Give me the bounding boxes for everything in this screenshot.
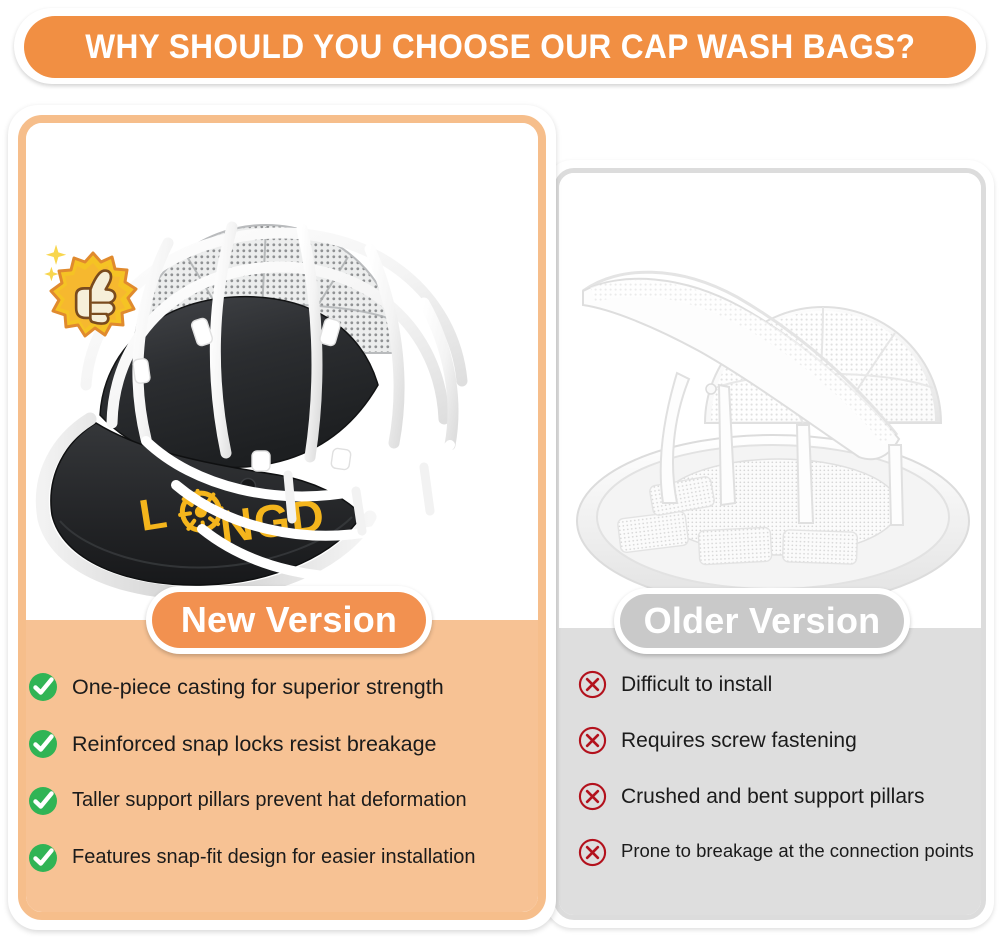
feature-text: One-piece casting for superior strength [72,672,444,701]
red-x-circle-icon [578,726,607,760]
feature-text: Reinforced snap locks resist breakage [72,729,437,758]
new-version-feature-list: One-piece casting for superior strength … [28,672,544,900]
new-version-product-photo: L [26,123,538,620]
older-version-product-photo [559,173,981,628]
list-item: Crushed and bent support pillars [578,782,978,816]
list-item: Requires screw fastening [578,726,978,760]
older-version-drawback-list: Difficult to install Requires screw fast… [578,670,978,894]
list-item: Prone to breakage at the connection poin… [578,838,978,872]
red-x-circle-icon [578,670,607,704]
list-item: One-piece casting for superior strength [28,672,544,707]
red-x-circle-icon [578,838,607,872]
thumbs-up-badge [44,245,142,343]
thumbs-up-icon [44,245,142,343]
drawback-text: Prone to breakage at the connection poin… [621,838,974,863]
list-item: Taller support pillars prevent hat defor… [28,786,544,821]
header-banner: WHY SHOULD YOU CHOOSE OUR CAP WASH BAGS? [14,8,986,84]
new-version-label-text: New Version [181,599,397,641]
green-check-circle-icon [28,786,58,821]
older-version-label-text: Older Version [644,600,881,642]
drawback-text: Difficult to install [621,670,772,699]
green-check-circle-icon [28,843,58,878]
drawback-text: Requires screw fastening [621,726,857,755]
older-version-label-pill: Older Version [614,588,910,654]
list-item: Difficult to install [578,670,978,704]
list-item: Features snap-fit design for easier inst… [28,843,544,878]
list-item: Reinforced snap locks resist breakage [28,729,544,764]
new-version-label-pill: New Version [146,586,432,654]
cap-wash-bag-new-illustration: L [26,123,538,620]
page-title: WHY SHOULD YOU CHOOSE OUR CAP WASH BAGS? [85,28,915,67]
older-version-pill-core: Older Version [620,594,904,648]
feature-text: Features snap-fit design for easier inst… [72,843,476,870]
drawback-text: Crushed and bent support pillars [621,782,925,811]
red-x-circle-icon [578,782,607,816]
header-banner-inner: WHY SHOULD YOU CHOOSE OUR CAP WASH BAGS? [24,16,976,78]
cap-wash-bag-old-illustration [559,173,981,628]
infographic-canvas: L [0,0,1000,937]
new-version-pill-core: New Version [152,592,426,648]
green-check-circle-icon [28,672,58,707]
feature-text: Taller support pillars prevent hat defor… [72,786,467,813]
green-check-circle-icon [28,729,58,764]
